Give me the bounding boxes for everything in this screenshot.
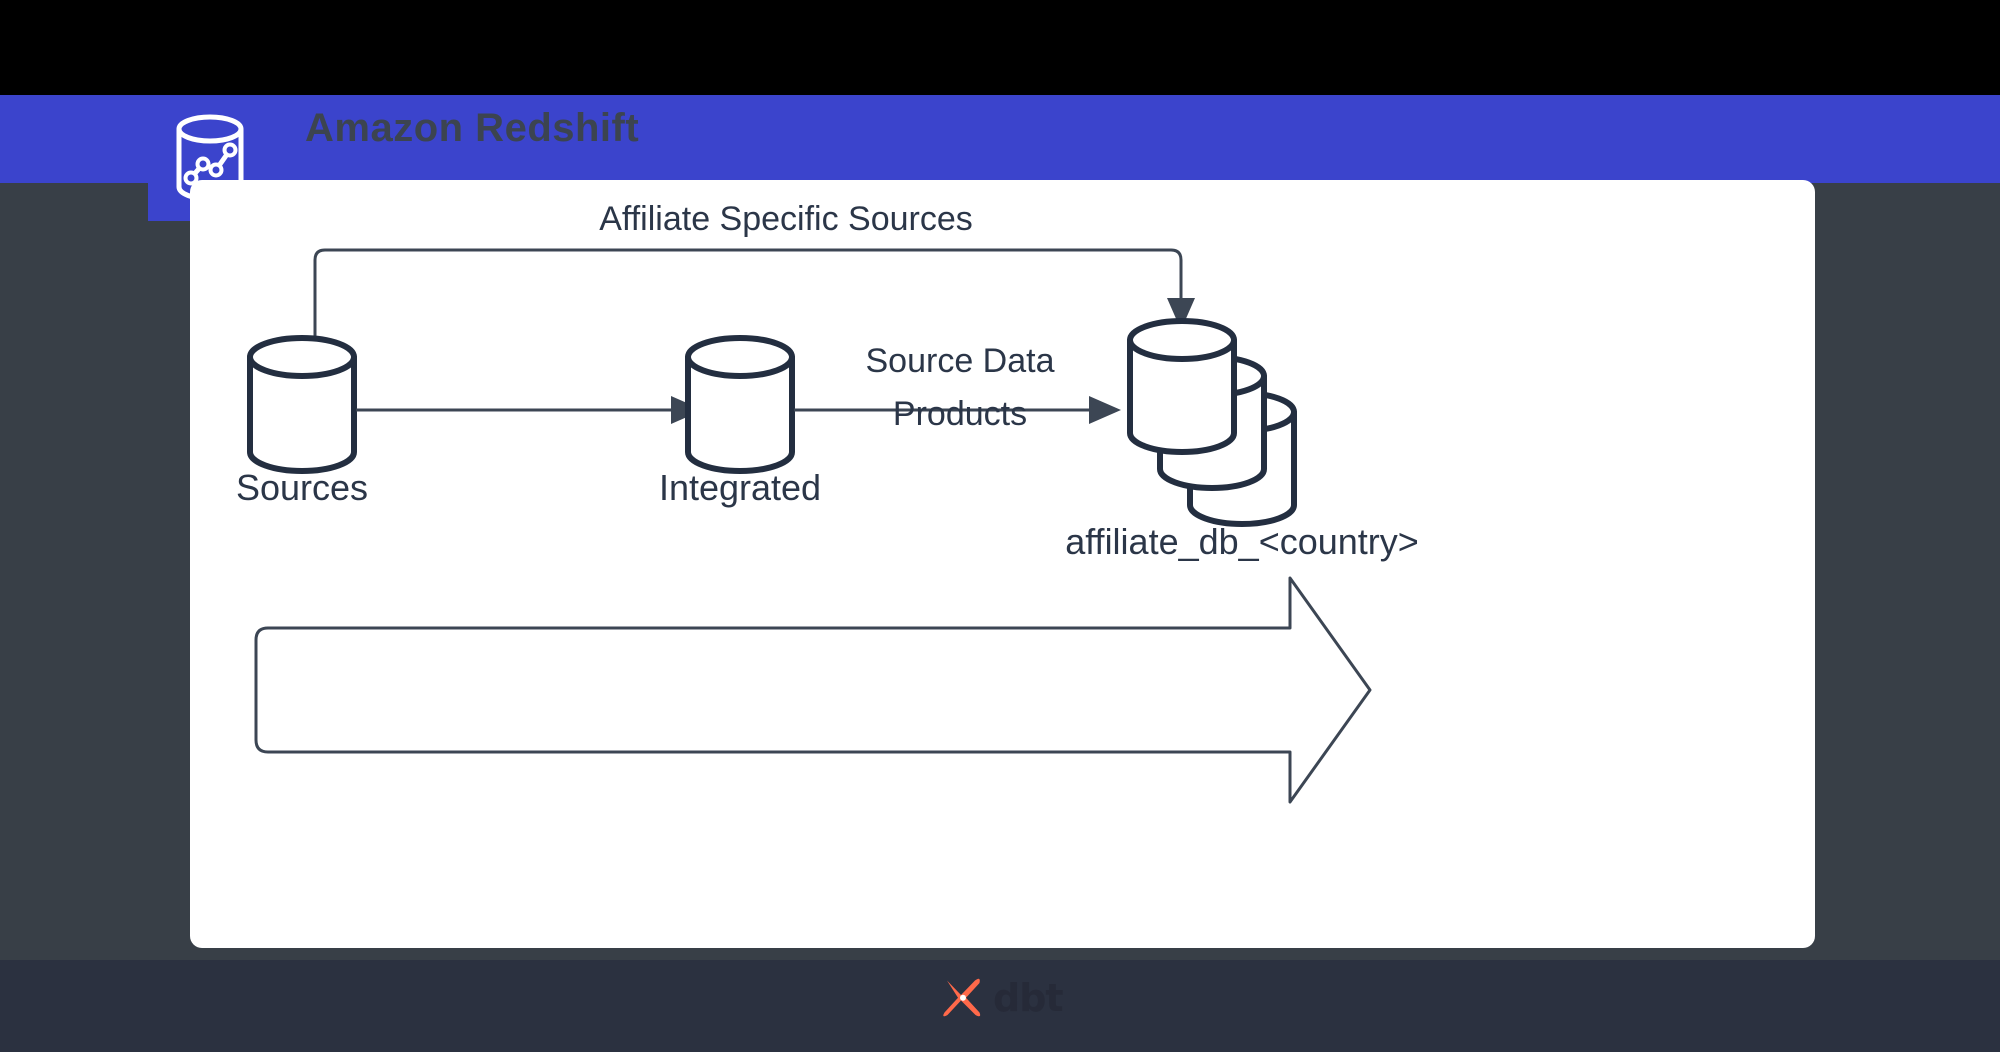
diagram-card: Affiliate Specific Sources Sources Integ… [190, 180, 1815, 948]
edge-affiliate-specific-sources [315, 250, 1181, 340]
arrow-head-affiliate-db [1089, 396, 1121, 424]
dbt-logo: dbt [942, 977, 1063, 1019]
edge-label-affiliate-specific-sources: Affiliate Specific Sources [599, 200, 973, 238]
node-label-affiliate-db: affiliate_db_<country> [1065, 521, 1419, 562]
dbt-mark-icon [942, 977, 984, 1019]
node-label-sources: Sources [236, 467, 368, 508]
dbt-banner-arrow [256, 578, 1370, 802]
architecture-diagram: Affiliate Specific Sources Sources Integ… [190, 180, 1815, 948]
edge-label-source-data-line1: Source Data [866, 342, 1055, 380]
node-sources [250, 338, 354, 471]
page-title: Amazon Redshift [305, 108, 639, 148]
screenshot-root: Amazon Redshift Affiliate Specific Sourc… [0, 0, 2000, 1052]
node-affiliate-db [1130, 321, 1294, 524]
node-integrated [688, 338, 792, 471]
dbt-label: dbt [993, 979, 1063, 1017]
page-background-top [0, 0, 2000, 95]
edge-label-source-data-line2: Products [893, 395, 1027, 433]
header-bar-strip [0, 160, 2000, 170]
node-label-integrated: Integrated [659, 467, 821, 508]
